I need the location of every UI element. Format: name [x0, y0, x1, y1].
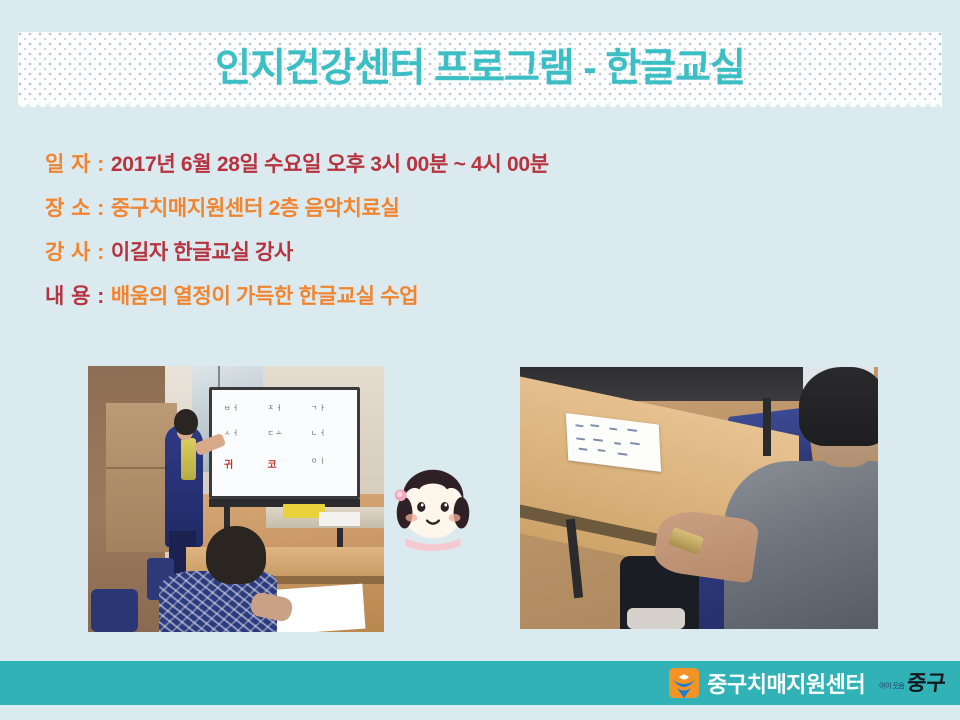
footer-bar: 중구치매지원센터 아이 웃음 중구 — [0, 661, 960, 705]
info-label-instructor: 강 사 : — [45, 236, 105, 266]
photo-back-papers — [319, 512, 360, 525]
calligraphy-subtext: 아이 웃음 — [879, 683, 904, 690]
title-banner: 인지건강센터 프로그램 - 한글교실 — [18, 32, 942, 104]
info-list: 일 자 : 2017년 6월 28일 수요일 오후 3시 00분 ~ 4시 00… — [45, 148, 745, 324]
photo-student-at-desk-worksheet — [520, 367, 878, 629]
photo-classroom-teacher-whiteboard: ㅂ ㅓ ㅈ ㅓ ㄱ ㅏ ㅅ ㅓ ㄷ ㅗ ㄴ ㅓ 귀 코 ㅇ ㅣ — [88, 366, 384, 632]
photo-person-shoe — [627, 608, 684, 629]
photo-teacher-hair — [174, 409, 198, 436]
info-row-location: 장 소 : 중구치매지원센터 2층 음악치료실 — [45, 192, 745, 236]
page-title: 인지건강센터 프로그램 - 한글교실 — [215, 49, 745, 88]
info-row-instructor: 강 사 : 이길자 한글교실 강사 — [45, 236, 745, 280]
footer-brand-group: 중구치매지원센터 아이 웃음 중구 — [669, 667, 946, 699]
center-logo-icon — [669, 668, 699, 698]
calligraphy-maintext: 중구 — [906, 673, 947, 694]
info-value-instructor: 이길자 한글교실 강사 — [111, 236, 293, 266]
photo-person-cap — [799, 367, 878, 446]
cartoon-girl-face-sticker — [384, 456, 482, 554]
info-value-date: 2017년 6월 28일 수요일 오후 3시 00분 ~ 4시 00분 — [111, 148, 549, 178]
info-label-content: 내 용 : — [45, 280, 105, 310]
info-label-location: 장 소 : — [45, 192, 105, 222]
info-row-date: 일 자 : 2017년 6월 28일 수요일 오후 3시 00분 ~ 4시 00… — [45, 148, 745, 192]
footer-brand-name: 중구치매지원센터 — [707, 667, 865, 699]
photo-whiteboard: ㅂ ㅓ ㅈ ㅓ ㄱ ㅏ ㅅ ㅓ ㄷ ㅗ ㄴ ㅓ 귀 코 ㅇ ㅣ — [209, 387, 360, 499]
photo-student-hair — [206, 526, 265, 585]
info-value-content: 배움의 열정이 가득한 한글교실 수업 — [111, 280, 418, 310]
photo-table-leg-back — [763, 398, 770, 456]
photo-chair-foreground — [91, 589, 138, 632]
info-value-location: 중구치매지원센터 2층 음악치료실 — [111, 192, 400, 222]
info-label-date: 일 자 : — [45, 148, 105, 178]
info-row-content: 내 용 : 배움의 열정이 가득한 한글교실 수업 — [45, 280, 745, 324]
junggu-calligraphy-logo: 아이 웃음 중구 — [879, 673, 946, 694]
